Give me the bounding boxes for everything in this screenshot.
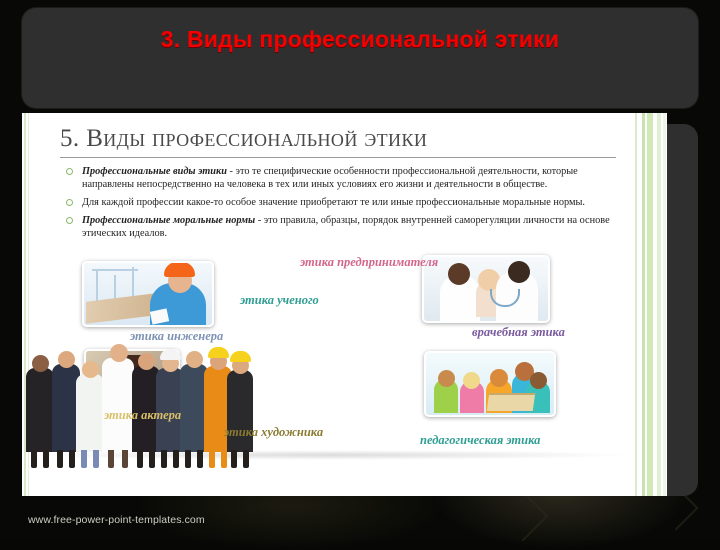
person-3-leg-left [81,450,87,468]
caption-actor: этика актера [104,408,181,423]
child-3-head [490,369,508,387]
person-2-leg-left [57,450,63,468]
child-2-head [463,372,480,389]
person-9-leg-right [243,450,249,468]
person-6-leg-right [173,450,179,468]
bullet-dot-icon [66,217,73,224]
person-5-head [138,353,155,370]
list-item: Профессиональные моральные нормы - это п… [64,214,624,240]
person-4-body-doctor [102,358,134,452]
caption-entrepreneur: этика предпринимателя [300,255,438,270]
bullet-lead-term: Профессиональные моральные нормы [82,215,255,226]
open-book-icon [487,393,536,411]
bullet-text: Для каждой профессии какое-то особое зна… [82,197,585,208]
list-item: Для каждой профессии какое-то особое зна… [64,196,624,209]
slide-stripe-right-4 [657,113,661,496]
person-5-leg-right [149,450,155,468]
person-3-leg-right [93,450,99,468]
child-4-head [530,372,547,389]
caption-scientist: этика ученого [240,293,319,308]
child-1-head [438,370,455,387]
white-hard-hat-icon [160,349,181,360]
photo-engineer [82,261,214,327]
person-6-leg-left [161,450,167,468]
person-9-leg-left [231,450,237,468]
person-2-leg-right [69,450,75,468]
person-7-leg-right [197,450,203,468]
page-title: 3. Виды профессиональной этики [22,26,698,53]
person-1-leg-left [31,450,37,468]
person-1-leg-right [43,450,49,468]
mother-head [448,263,470,285]
bullet-dot-icon [66,168,73,175]
caption-engineer: этика инженера [130,329,223,344]
person-4-leg-right [122,450,128,468]
caption-pedagogy: педагогическая этика [420,433,540,448]
caption-doctor: врачебная этика [472,325,565,340]
bullet-lead-term: Профессиональные виды этики [82,166,227,177]
footer-watermark-url: www.free-power-point-templates.com [28,514,205,526]
list-item: Профессиональные виды этики - это те спе… [64,165,624,191]
slide-stripe-right-5 [663,113,666,496]
photo-teacher-with-children [424,351,556,417]
person-3-body-nurse [76,374,104,452]
slide-stripe-right-2 [642,113,645,496]
crane-mast-1 [96,269,98,303]
person-8-leg-left [209,450,215,468]
person-5-leg-left [137,450,143,468]
bullet-dot-icon [66,199,73,206]
bullet-list: Профессиональные виды этики - это те спе… [64,165,624,245]
person-1-body [26,368,54,452]
person-7-head [186,351,203,368]
doctor-head [508,261,530,283]
slide-stripe-right-3 [647,113,653,496]
person-8-leg-right [221,450,227,468]
person-4-head [110,344,128,362]
yellow-hard-hat-icon-2 [230,351,251,362]
header-panel: 3. Виды профессиональной этики [22,8,698,108]
person-1-head [32,355,49,372]
presentation-slide: 5. Виды профессиональной этики Профессио… [22,113,667,496]
caption-artist: этика художника [224,425,323,440]
person-7-leg-left [185,450,191,468]
hard-hat-icon [164,262,195,277]
person-2-head [58,351,75,368]
profession-collage: этика предпринимателя этика ученого этик… [22,253,637,468]
title-underline [60,157,616,158]
person-3-head [82,361,99,378]
yellow-hard-hat-icon [208,347,229,358]
slide-title: 5. Виды профессиональной этики [60,125,427,153]
photo-doctor-with-child [422,255,550,323]
crane-jib [92,269,138,271]
person-4-leg-left [108,450,114,468]
